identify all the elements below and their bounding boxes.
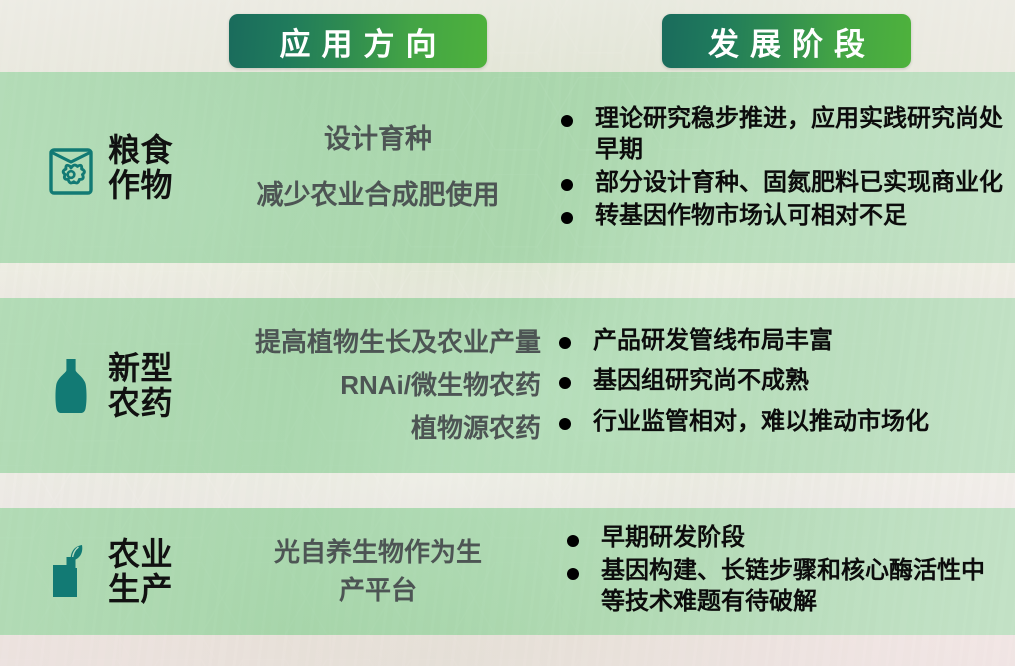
band-wash-gap-2 [0, 473, 1015, 508]
application-direction-cell: 光自养生物作为生 产平台 [215, 534, 545, 610]
header-badge-development-stage: 发展阶段 [662, 14, 911, 68]
stage-text: 基因组研究尚不成熟 [593, 367, 809, 394]
table-row: 新型 农药 提高植物生长及农业产量 RNAi/微生物农药 植物源农药 产品研发管… [0, 298, 1015, 473]
bullet-dot-icon [561, 115, 573, 127]
list-item: 产品研发管线布局丰富 [551, 325, 1007, 356]
stage-text: 部分设计育种、固氮肥料已实现商业化 [595, 169, 1003, 196]
stage-text: 理论研究稳步推进，应用实践研究尚处早期 [595, 105, 1003, 164]
table-row: 粮食 作物 设计育种 减少农业合成肥使用 理论研究稳步推进，应用实践研究尚处早期… [0, 72, 1015, 263]
stage-text: 产品研发管线布局丰富 [593, 327, 833, 354]
row-category-cell: 新型 农药 [0, 351, 215, 419]
list-item: 早期研发阶段 [559, 523, 1007, 554]
category-label: 新型 农药 [108, 351, 173, 419]
stage-text: 转基因作物市场认可相对不足 [595, 202, 907, 229]
stage-bullet-list: 产品研发管线布局丰富 基因组研究尚不成熟 行业监管相对，难以推动市场化 [551, 325, 1007, 437]
bullet-dot-icon [567, 535, 579, 547]
band-wash-gap-1 [0, 263, 1015, 298]
crop-field-sprout-icon [44, 542, 98, 602]
stage-text: 基因构建、长链步骤和核心酶活性中等技术难题有待破解 [601, 557, 985, 615]
row-category-cell: 农业 生产 [0, 537, 215, 605]
list-item: 部分设计育种、固氮肥料已实现商业化 [553, 167, 1007, 199]
pesticide-bottle-icon [44, 356, 98, 416]
stage-bullet-list: 理论研究稳步推进，应用实践研究尚处早期 部分设计育种、固氮肥料已实现商业化 转基… [553, 103, 1007, 232]
slide-canvas: 应用方向 发展阶段 粮食 作物 设计育种 减少农业合成肥使用 理论研究稳步推进，… [0, 0, 1015, 666]
development-stage-cell: 早期研发阶段 基因构建、长链步骤和核心酶活性中等技术难题有待破解 [545, 523, 1015, 619]
development-stage-cell: 产品研发管线布局丰富 基因组研究尚不成熟 行业监管相对，难以推动市场化 [545, 325, 1015, 446]
bullet-dot-icon [559, 418, 571, 430]
table-row: 农业 生产 光自养生物作为生 产平台 早期研发阶段 基因构建、长链步骤和核心酶活… [0, 508, 1015, 635]
seed-packet-icon [44, 138, 98, 198]
list-item: 理论研究稳步推进，应用实践研究尚处早期 [553, 103, 1007, 166]
row-category-cell: 粮食 作物 [0, 133, 215, 201]
bullet-dot-icon [561, 212, 573, 224]
category-label: 粮食 作物 [108, 133, 173, 201]
direction-item: 提高植物生长及农业产量 [217, 321, 541, 364]
stage-text: 早期研发阶段 [601, 524, 745, 551]
direction-item: 植物源农药 [217, 407, 541, 450]
list-item: 基因组研究尚不成熟 [551, 365, 1007, 396]
list-item: 行业监管相对，难以推动市场化 [551, 406, 1007, 437]
stage-text: 行业监管相对，难以推动市场化 [593, 408, 929, 435]
list-item: 基因构建、长链步骤和核心酶活性中等技术难题有待破解 [559, 556, 1007, 617]
band-wash-bottom [0, 635, 1015, 666]
direction-item: 设计育种 [217, 112, 539, 167]
bullet-dot-icon [559, 377, 571, 389]
bullet-dot-icon [567, 568, 579, 580]
direction-item: 产平台 [217, 572, 539, 610]
stage-bullet-list: 早期研发阶段 基因构建、长链步骤和核心酶活性中等技术难题有待破解 [559, 523, 1007, 617]
header-badge-application-direction: 应用方向 [229, 14, 487, 68]
bullet-dot-icon [561, 179, 573, 191]
application-direction-cell: 设计育种 减少农业合成肥使用 [215, 112, 545, 223]
direction-item: 光自养生物作为生 [217, 534, 539, 572]
list-item: 转基因作物市场认可相对不足 [553, 200, 1007, 232]
bullet-dot-icon [559, 337, 571, 349]
direction-item: 减少农业合成肥使用 [217, 168, 539, 223]
development-stage-cell: 理论研究稳步推进，应用实践研究尚处早期 部分设计育种、固氮肥料已实现商业化 转基… [545, 103, 1015, 233]
direction-item: RNAi/微生物农药 [217, 364, 541, 407]
application-direction-cell: 提高植物生长及农业产量 RNAi/微生物农药 植物源农药 [215, 321, 545, 450]
category-label: 农业 生产 [108, 537, 173, 605]
